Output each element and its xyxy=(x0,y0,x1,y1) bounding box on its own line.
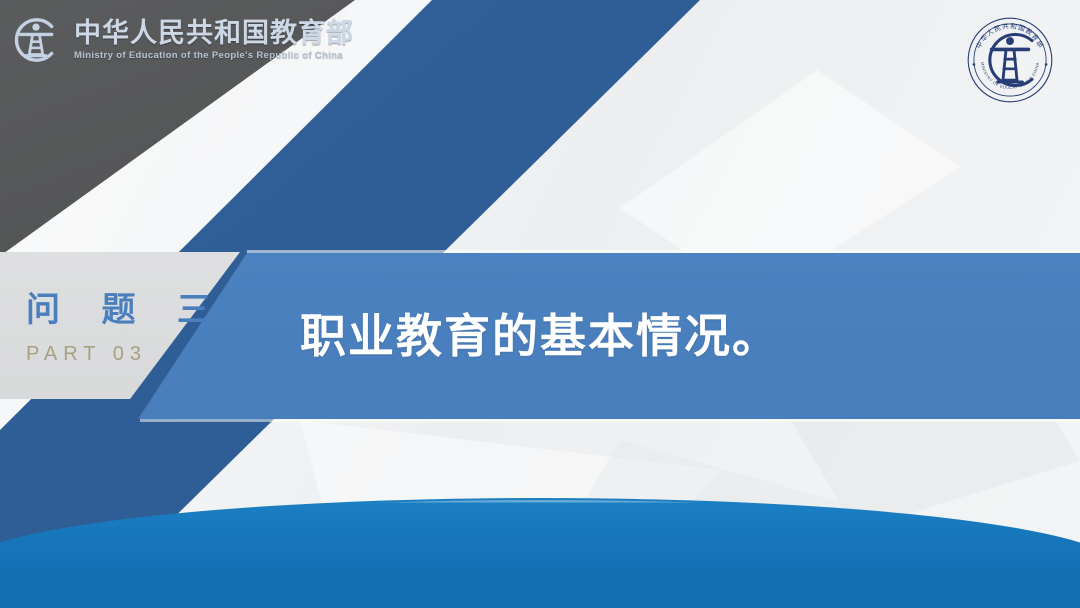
moe-emblem-icon xyxy=(8,12,64,68)
section-caption: 问 题 三 PART 03 xyxy=(26,292,227,366)
bottom-curve-highlight xyxy=(0,500,1080,608)
section-caption-cn: 问 题 三 xyxy=(26,292,227,329)
title-band-rule-bottom xyxy=(140,419,1080,422)
section-caption-en: PART 03 xyxy=(26,343,227,366)
brand-name-en: Ministry of Education of the People's Re… xyxy=(74,50,354,61)
moe-seal-icon: 中华人民共和国教育部 MINISTRY OF EDUCATION P.R.CHI… xyxy=(966,16,1054,104)
slide-title: 职业教育的基本情况。 xyxy=(300,300,780,366)
slide-canvas: 中华人民共和国教育部 Ministry of Education of the … xyxy=(0,0,1080,608)
brand-lockup: 中华人民共和国教育部 Ministry of Education of the … xyxy=(8,12,354,68)
brand-name-cn: 中华人民共和国教育部 xyxy=(74,19,354,47)
brand-text-group: 中华人民共和国教育部 Ministry of Education of the … xyxy=(74,19,354,60)
title-band-rule-top xyxy=(247,250,1080,253)
